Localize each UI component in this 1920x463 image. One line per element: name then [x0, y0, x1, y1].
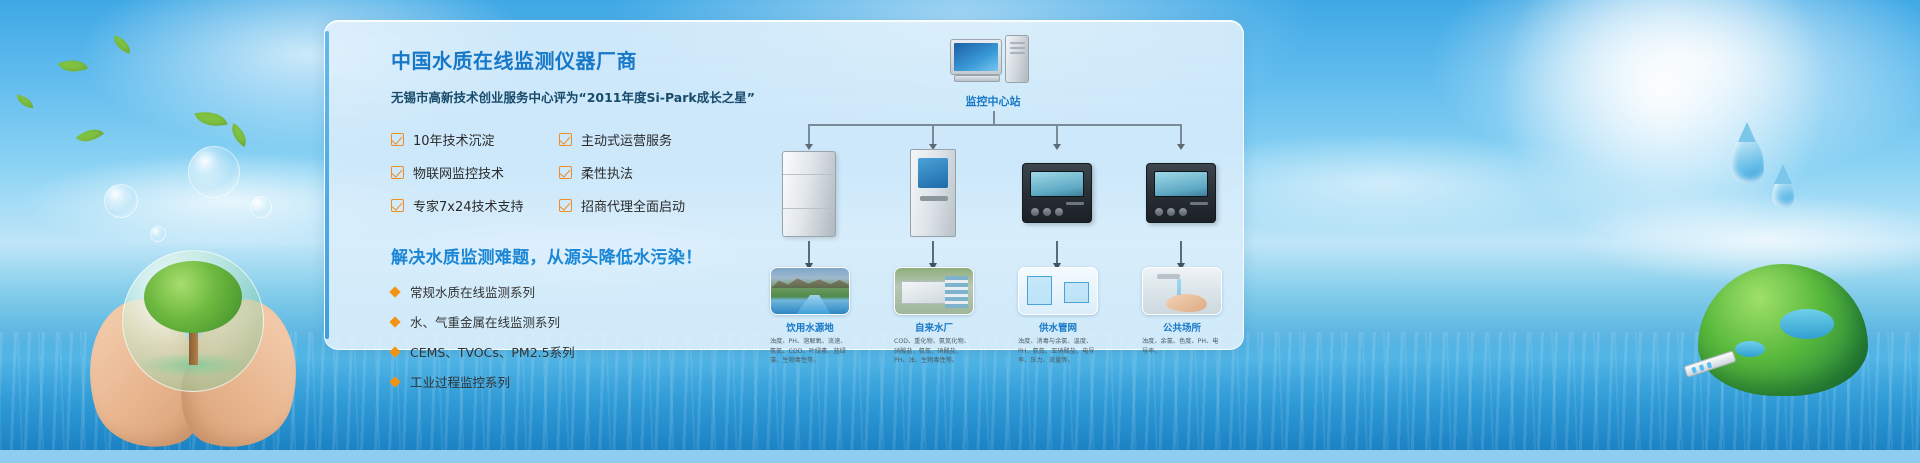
scene-photo-supply-network	[1018, 267, 1098, 315]
connector-leg	[1056, 124, 1058, 146]
system-diagram: 监控中心站	[770, 35, 1220, 343]
feature-item: 招商代理全面启动	[559, 196, 751, 215]
page-title: 中国水质在线监测仪器厂商	[391, 45, 751, 74]
scene-photo-water-plant	[894, 267, 974, 315]
feature-label: 物联网监控技术	[413, 163, 504, 182]
flow-arrow-icon	[808, 241, 810, 265]
list-item: 常规水质在线监测系列	[391, 282, 751, 301]
content-panel: 中国水质在线监测仪器厂商 无锡市高新技术创业服务中心评为“2011年度Si-Pa…	[324, 20, 1244, 350]
rack-body	[910, 149, 956, 237]
scene-title: 供水管网	[1018, 320, 1098, 334]
checkbox-checked-icon	[391, 199, 404, 212]
device-panel-controller-2	[1142, 147, 1220, 239]
diamond-bullet-icon	[389, 316, 400, 327]
bubble-icon	[150, 226, 166, 242]
tree-crown	[144, 261, 242, 333]
cabinet-body	[782, 151, 836, 237]
page-subtitle: 无锡市高新技术创业服务中心评为“2011年度Si-Park成长之星”	[391, 87, 751, 106]
eco-globe	[122, 250, 264, 392]
checkbox-checked-icon	[559, 133, 572, 146]
pc-tower-icon	[1005, 35, 1029, 83]
checkbox-checked-icon	[391, 166, 404, 179]
diamond-bullet-icon	[389, 376, 400, 387]
list-item-label: 水、气重金属在线监测系列	[410, 312, 560, 331]
checkbox-checked-icon	[391, 133, 404, 146]
keyboard-icon	[954, 75, 1000, 82]
product-series-list: 常规水质在线监测系列 水、气重金属在线监测系列 CEMS、TVOCs、PM2.5…	[391, 282, 751, 391]
scene-description: 浊度、PH、溶解氧、流速、氨氮、COD、叶绿素、蓝绿藻、生物毒性等。	[770, 337, 850, 366]
scene-description: 浊度、余氯、色度、PH、电导率。	[1142, 337, 1222, 356]
list-item: 水、气重金属在线监测系列	[391, 312, 751, 331]
feature-label: 专家7x24技术支持	[413, 196, 524, 215]
scene-card[interactable]: 自来水厂 COD、重化物、氨氮化物、硝酸盐、氨氮、硝酸盐、PH、浊、生物毒性等。	[894, 267, 974, 366]
controller-body	[1022, 163, 1092, 223]
device-cabinet-analyzer	[770, 147, 848, 239]
connector-leg	[808, 124, 810, 146]
feature-item: 专家7x24技术支持	[391, 196, 559, 215]
hub-label: 监控中心站	[908, 93, 1078, 109]
left-content-column: 中国水质在线监测仪器厂商 无锡市高新技术创业服务中心评为“2011年度Si-Pa…	[391, 45, 751, 402]
monitoring-center-computer-icon	[950, 35, 1032, 87]
feature-item: 物联网监控技术	[391, 163, 559, 182]
scene-card[interactable]: 饮用水源地 浊度、PH、溶解氧、流速、氨氮、COD、叶绿素、蓝绿藻、生物毒性等。	[770, 267, 850, 366]
feature-checklist: 10年技术沉淀 主动式运营服务 物联网监控技术 柔性执法 专家7x24技术支持 …	[391, 130, 751, 215]
feature-label: 柔性执法	[581, 163, 633, 182]
flow-arrow-icon	[932, 241, 934, 265]
scene-photo-public-place	[1142, 267, 1222, 315]
earth-ball	[1698, 264, 1868, 396]
flow-arrow-icon	[1056, 241, 1058, 265]
monitor-icon	[950, 39, 1002, 75]
feature-item: 10年技术沉淀	[391, 130, 559, 149]
list-item-label: 工业过程监控系列	[410, 372, 510, 391]
bubble-icon	[104, 184, 138, 218]
earth-lake	[1780, 309, 1834, 339]
scene-description: 浊度、消毒与余氯、温度、PH、氨氮、亚硝酸盐、电导率、压力、流量等。	[1018, 337, 1098, 366]
bubble-icon	[188, 146, 240, 198]
connector-leg	[1180, 124, 1182, 146]
diamond-bullet-icon	[389, 286, 400, 297]
connector-leg	[932, 124, 934, 146]
scene-title: 公共场所	[1142, 320, 1222, 334]
feature-label: 招商代理全面启动	[581, 196, 685, 215]
controller-body	[1146, 163, 1216, 223]
checkbox-checked-icon	[559, 199, 572, 212]
diagram-connectors	[790, 111, 1190, 147]
scene-photo-water-source	[770, 267, 850, 315]
list-item: 工业过程监控系列	[391, 372, 751, 391]
section-title: 解决水质监测难题，从源头降低水污染！	[391, 243, 751, 268]
device-panel-controller-1	[1018, 147, 1096, 239]
earth-lake	[1735, 341, 1765, 357]
bubble-icon	[250, 196, 272, 218]
device-rack-analyzer	[894, 147, 972, 239]
list-item-label: 常规水质在线监测系列	[410, 282, 535, 301]
feature-item: 柔性执法	[559, 163, 751, 182]
list-item-label: CEMS、TVOCs、PM2.5系列	[410, 342, 575, 361]
checkbox-checked-icon	[559, 166, 572, 179]
hand-icon	[1166, 294, 1207, 312]
list-item: CEMS、TVOCs、PM2.5系列	[391, 342, 751, 361]
scene-card[interactable]: 公共场所 浊度、余氯、色度、PH、电导率。	[1142, 267, 1222, 356]
feature-label: 主动式运营服务	[581, 130, 672, 149]
scene-card[interactable]: 供水管网 浊度、消毒与余氯、温度、PH、氨氮、亚硝酸盐、电导率、压力、流量等。	[1018, 267, 1098, 366]
scene-description: COD、重化物、氨氮化物、硝酸盐、氨氮、硝酸盐、PH、浊、生物毒性等。	[894, 337, 974, 366]
scene-title: 自来水厂	[894, 320, 974, 334]
feature-label: 10年技术沉淀	[413, 130, 495, 149]
flow-arrow-icon	[1180, 241, 1182, 265]
connector-stem	[993, 111, 995, 125]
grass-earth-globe	[1698, 264, 1868, 396]
scene-title: 饮用水源地	[770, 320, 850, 334]
connector-bus	[808, 124, 1180, 126]
water-droplet-icon	[1772, 178, 1794, 208]
diamond-bullet-icon	[389, 346, 400, 357]
feature-item: 主动式运营服务	[559, 130, 751, 149]
hands-holding-tree	[88, 275, 298, 450]
